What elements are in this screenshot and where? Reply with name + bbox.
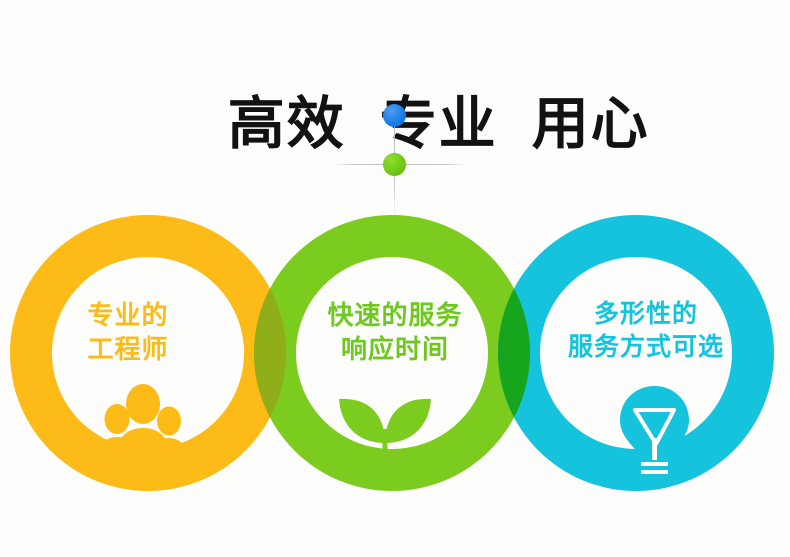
- sprout-icon: [329, 383, 441, 475]
- infographic-canvas: 高效专业用心: [0, 0, 790, 557]
- circle-label-response: 快速的服务 响应时间: [290, 300, 500, 368]
- circle-label-flexible: 多形性的 服务方式可选: [530, 298, 762, 363]
- people-icon: [93, 383, 193, 461]
- lightbulb-icon: [602, 382, 707, 478]
- circle-label-engineers: 专业的 工程师: [28, 300, 228, 368]
